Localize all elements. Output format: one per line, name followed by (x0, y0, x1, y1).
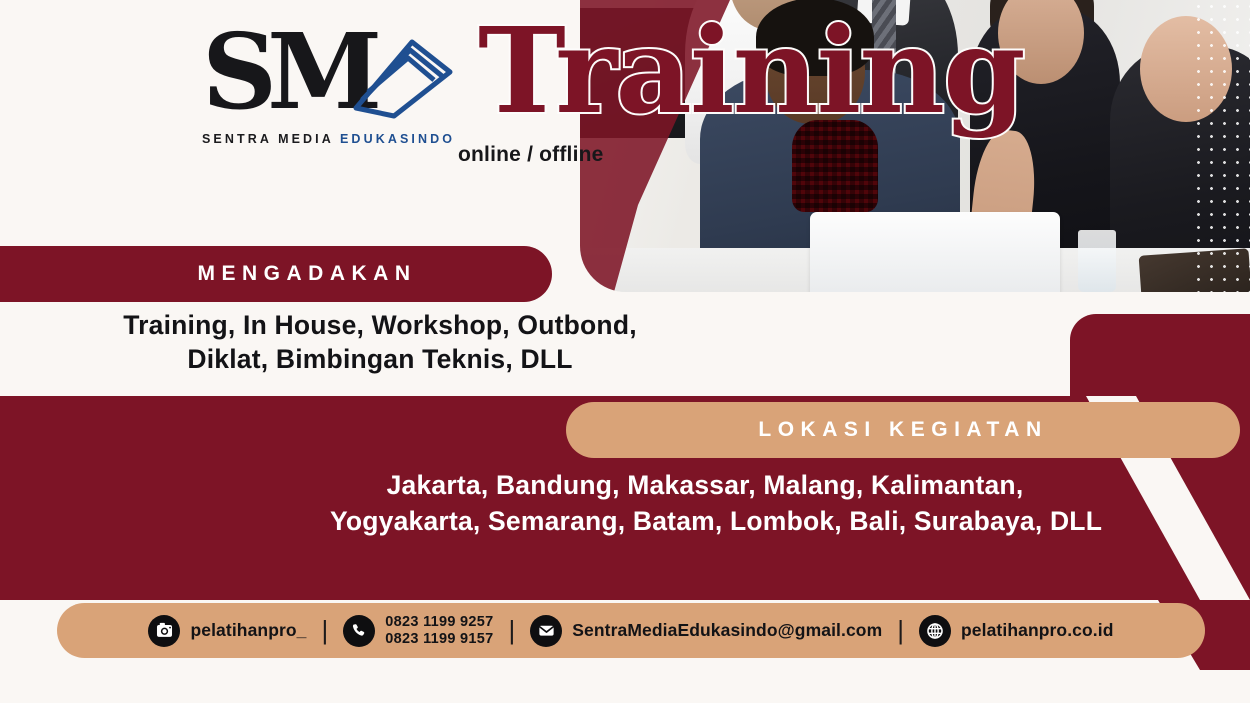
contact-separator-3: | (897, 615, 904, 646)
photo-water-glass (1078, 230, 1116, 292)
phone-number-2: 0823 1199 9157 (385, 631, 493, 647)
logo-subtitle-part1: SENTRA MEDIA (202, 132, 340, 146)
website-url: pelatihanpro.co.id (961, 620, 1114, 641)
envelope-icon (530, 615, 562, 647)
globe-icon (919, 615, 951, 647)
contact-instagram[interactable]: pelatihanpro_ (148, 615, 306, 647)
lokasi-line-2: Yogyakarta, Semarang, Batam, Lombok, Bal… (330, 504, 1080, 540)
logo-subtitle: SENTRA MEDIA EDUKASINDO (202, 132, 455, 146)
phone-number-1: 0823 1199 9257 (385, 614, 493, 630)
phone-icon (343, 615, 375, 647)
mengadakan-label: MENGADAKAN (0, 246, 552, 302)
email-address: SentraMediaEdukasindo@gmail.com (572, 620, 882, 641)
company-logo: SM SENTRA MEDIA EDUKASINDO (196, 24, 458, 154)
lokasi-list: Jakarta, Bandung, Makassar, Malang, Kali… (330, 468, 1080, 540)
instagram-icon (148, 615, 180, 647)
lokasi-label: LOKASI KEGIATAN (566, 402, 1240, 458)
contact-email[interactable]: SentraMediaEdukasindo@gmail.com (530, 615, 882, 647)
contact-phone[interactable]: 0823 1199 9257 0823 1199 9157 (343, 614, 493, 646)
contact-website[interactable]: pelatihanpro.co.id (919, 615, 1114, 647)
contact-separator-1: | (322, 615, 329, 646)
mengadakan-line-1: Training, In House, Workshop, Outbond, (0, 308, 760, 342)
mengadakan-list: Training, In House, Workshop, Outbond, D… (0, 308, 760, 377)
dot-grid-pattern (1192, 0, 1250, 292)
instagram-handle: pelatihanpro_ (190, 620, 306, 641)
logo-letters: SM (202, 20, 372, 124)
logo-subtitle-part2: EDUKASINDO (340, 132, 455, 146)
page-title: Training (478, 12, 1024, 130)
phone-numbers: 0823 1199 9257 0823 1199 9157 (385, 614, 493, 646)
title-subtitle: online / offline (458, 143, 604, 167)
chevron-top-shape (1070, 314, 1250, 398)
logo-mark: SM (196, 24, 458, 124)
lokasi-band: LOKASI KEGIATAN (566, 402, 1240, 458)
lokasi-line-1: Jakarta, Bandung, Makassar, Malang, Kali… (330, 468, 1080, 504)
contact-separator-2: | (509, 615, 516, 646)
training-promo-banner: SM SENTRA MEDIA EDUKASINDO Training onli… (0, 0, 1250, 703)
mengadakan-line-2: Diklat, Bimbingan Teknis, DLL (0, 342, 760, 376)
mengadakan-band: MENGADAKAN (0, 246, 552, 302)
contact-bar: pelatihanpro_ | 0823 1199 9257 0823 1199… (57, 603, 1205, 658)
photo-laptop (810, 212, 1060, 292)
open-book-icon (348, 36, 458, 129)
